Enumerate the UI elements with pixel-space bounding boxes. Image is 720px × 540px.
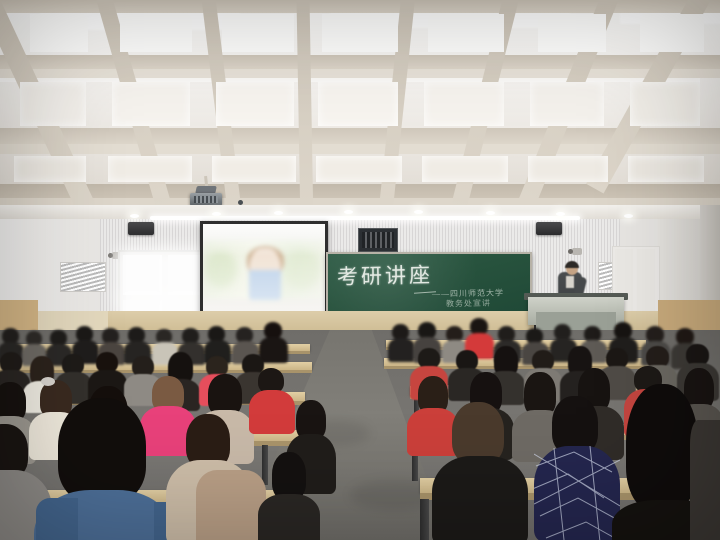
downlight-icon xyxy=(486,211,495,215)
blackboard-subtitle-line2: 教务处宣讲 xyxy=(446,298,491,310)
lecture-hall-photo: 考研讲座 ——四川师范大学 教务处宣讲 xyxy=(0,0,720,540)
presenter-shirt xyxy=(566,276,574,288)
downlight-icon xyxy=(212,212,221,216)
blackboard: 考研讲座 ——四川师范大学 教务处宣讲 xyxy=(326,252,532,320)
downlight-icon xyxy=(414,210,423,214)
downlight-icon xyxy=(344,210,353,214)
wall-speaker-left xyxy=(128,222,154,235)
downlight-icon xyxy=(130,214,139,218)
wall-camera-right xyxy=(572,248,582,255)
wall-control-panel[interactable] xyxy=(358,228,398,252)
presenter-hair xyxy=(565,261,579,268)
blackboard-title: 考研讲座 xyxy=(337,259,434,291)
downlight-icon xyxy=(624,214,633,218)
wall-speaker-right xyxy=(536,222,562,235)
ceiling-light-bar xyxy=(150,216,580,220)
coat-pattern-icon xyxy=(534,446,620,540)
air-vent-left xyxy=(60,262,106,292)
downlight-icon xyxy=(556,212,565,216)
podium-base xyxy=(536,312,616,330)
downlight-icon xyxy=(274,211,283,215)
ceiling xyxy=(0,0,720,215)
projection-screen xyxy=(200,221,328,318)
